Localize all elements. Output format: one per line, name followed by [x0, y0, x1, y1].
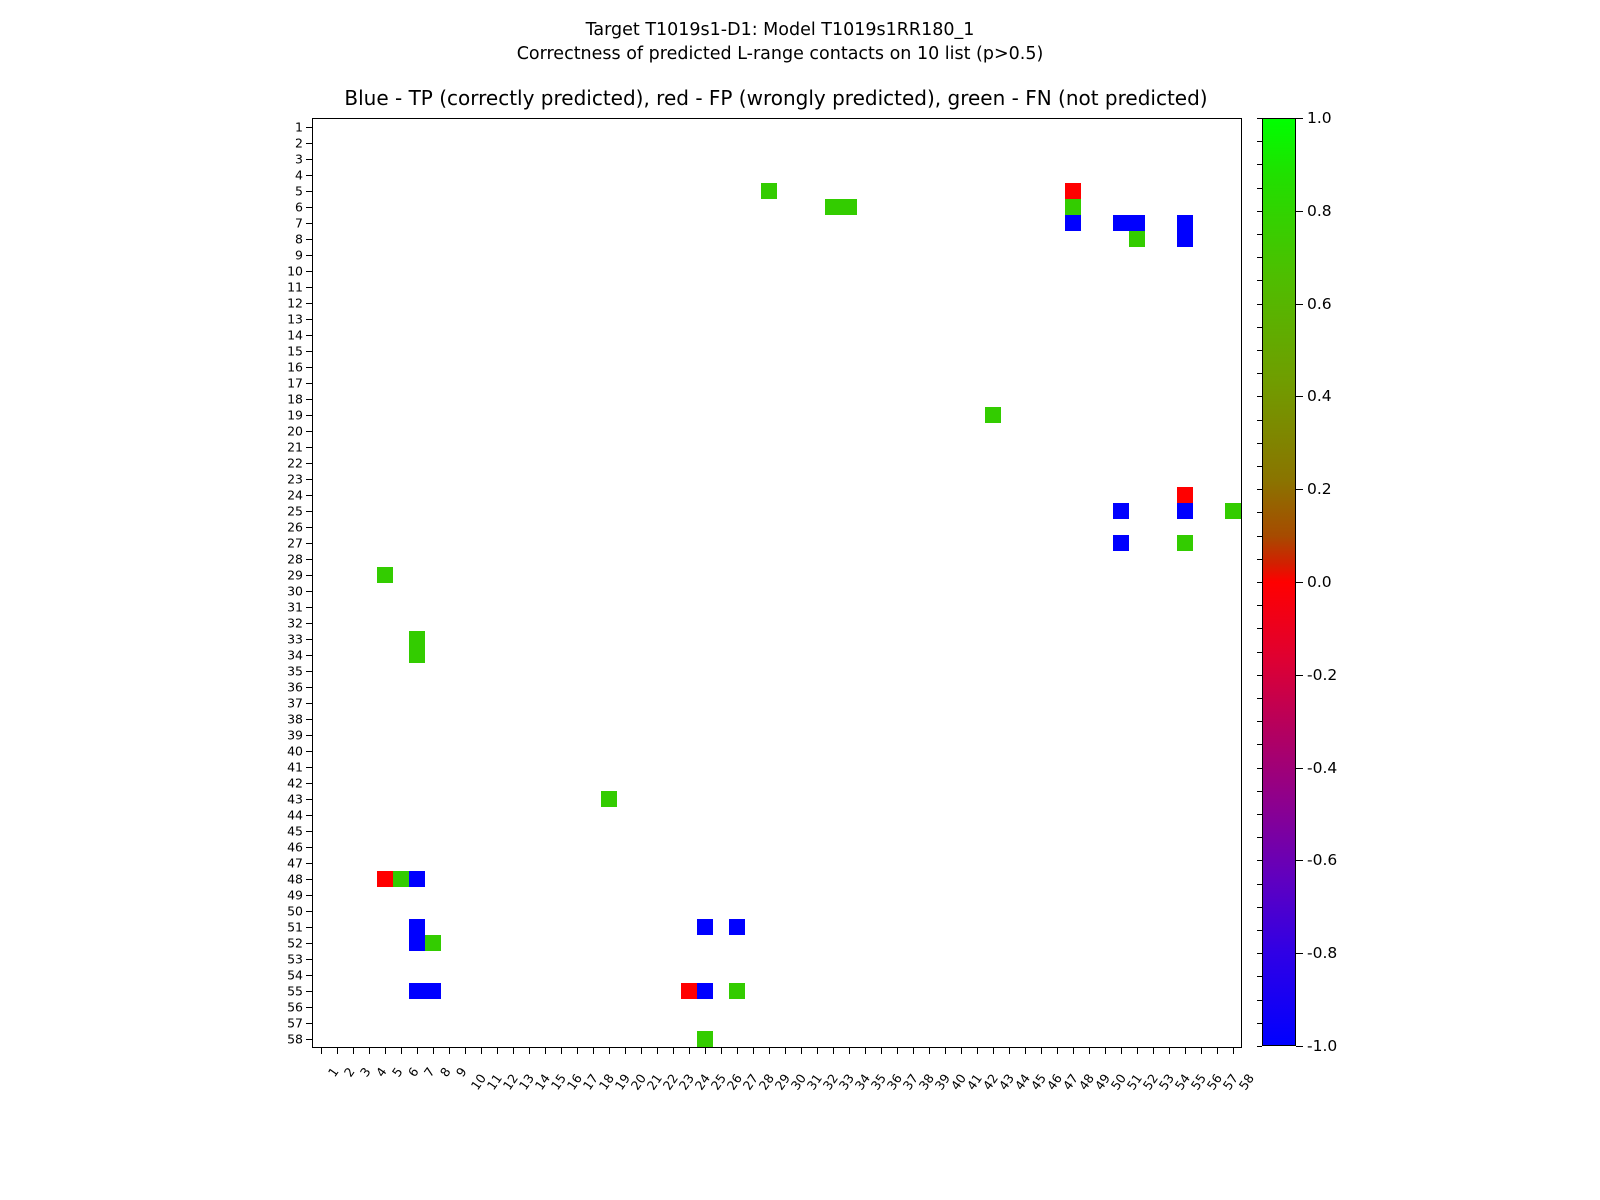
x-axis-tick-label: 7 — [421, 1065, 438, 1080]
y-axis-tick-label: 47 — [287, 856, 303, 871]
x-axis-tick — [961, 1047, 962, 1054]
y-axis-tick-label: 7 — [295, 216, 303, 231]
y-axis-tick — [306, 783, 313, 784]
y-axis-tick-label: 4 — [295, 168, 303, 183]
x-axis-tick — [1217, 1047, 1218, 1054]
x-axis-tick — [513, 1047, 514, 1054]
contact-cell-fn — [1225, 503, 1241, 519]
x-axis-tick-label: 5 — [389, 1065, 406, 1080]
colorbar-tick-label: 0.0 — [1307, 573, 1332, 591]
x-axis-tick — [865, 1047, 866, 1054]
y-axis-tick-label: 52 — [287, 936, 303, 951]
colorbar-tick — [1296, 396, 1303, 397]
colorbar-minor-tick — [1257, 1023, 1262, 1024]
contact-cell-fn — [761, 183, 777, 199]
y-axis-tick — [306, 1007, 313, 1008]
y-axis-tick — [306, 127, 313, 128]
contact-cell-fn — [729, 983, 745, 999]
x-axis-tick — [417, 1047, 418, 1054]
colorbar-tick-label: -0.8 — [1307, 944, 1337, 962]
colorbar-minor-tick — [1257, 605, 1262, 606]
y-axis-tick-label: 27 — [287, 536, 303, 551]
colorbar-minor-tick — [1257, 536, 1262, 537]
colorbar-minor-tick — [1257, 698, 1262, 699]
colorbar: 1.00.80.60.40.20.0-0.2-0.4-0.6-0.8-1.0 — [1262, 118, 1296, 1046]
y-axis-tick-label: 10 — [287, 264, 303, 279]
x-axis-tick — [705, 1047, 706, 1054]
colorbar-minor-tick — [1257, 257, 1262, 258]
y-axis-tick-label: 58 — [287, 1032, 303, 1047]
x-axis-tick — [769, 1047, 770, 1054]
x-axis-tick — [833, 1047, 834, 1054]
colorbar-tick-label: -1.0 — [1307, 1037, 1337, 1055]
y-axis-tick — [306, 431, 313, 432]
x-axis-tick — [913, 1047, 914, 1054]
colorbar-minor-tick — [1257, 582, 1262, 583]
contact-cell-fn — [697, 1031, 713, 1047]
colorbar-minor-tick — [1257, 744, 1262, 745]
x-axis-tick-label: 6 — [405, 1065, 422, 1080]
contact-cell-fn — [985, 407, 1001, 423]
colorbar-minor-tick — [1257, 466, 1262, 467]
contact-cell-fp — [377, 871, 393, 887]
colorbar-minor-tick — [1257, 489, 1262, 490]
colorbar-minor-tick — [1257, 234, 1262, 235]
x-axis-tick — [737, 1047, 738, 1054]
y-axis-tick-label: 9 — [295, 248, 303, 263]
x-axis-tick — [849, 1047, 850, 1054]
y-axis-tick-label: 5 — [295, 184, 303, 199]
x-axis-tick — [881, 1047, 882, 1054]
colorbar-minor-tick — [1257, 420, 1262, 421]
chart-title-line-2: Correctness of predicted L-range contact… — [0, 42, 1560, 66]
y-axis-tick — [306, 943, 313, 944]
y-axis-tick — [306, 767, 313, 768]
y-axis-tick-label: 35 — [287, 664, 303, 679]
contact-cell-fp — [1065, 183, 1081, 199]
y-axis-tick — [306, 671, 313, 672]
y-axis-tick — [306, 415, 313, 416]
x-axis-tick-label: 2 — [341, 1065, 358, 1080]
x-axis-tick — [721, 1047, 722, 1054]
y-axis-tick-label: 37 — [287, 696, 303, 711]
x-axis-tick — [1041, 1047, 1042, 1054]
y-axis-tick-label: 12 — [287, 296, 303, 311]
y-axis-tick-label: 32 — [287, 616, 303, 631]
colorbar-tick — [1296, 489, 1303, 490]
x-axis-tick — [945, 1047, 946, 1054]
colorbar-minor-tick — [1257, 118, 1262, 119]
colorbar-minor-tick — [1257, 350, 1262, 351]
x-axis-tick — [497, 1047, 498, 1054]
y-axis-tick-label: 22 — [287, 456, 303, 471]
y-axis-tick-label: 2 — [295, 136, 303, 151]
colorbar-minor-tick — [1257, 930, 1262, 931]
y-axis-tick-label: 55 — [287, 984, 303, 999]
x-axis-tick-label: 8 — [437, 1065, 454, 1080]
contact-cell-fn — [601, 791, 617, 807]
y-axis-tick-label: 54 — [287, 968, 303, 983]
contact-cell-tp — [1113, 535, 1129, 551]
chart-subtitle-legend: Blue - TP (correctly predicted), red - F… — [312, 86, 1240, 110]
y-axis-tick-label: 50 — [287, 904, 303, 919]
colorbar-minor-tick — [1257, 814, 1262, 815]
y-axis-tick-label: 30 — [287, 584, 303, 599]
x-axis-tick — [369, 1047, 370, 1054]
contact-cell-tp — [1113, 503, 1129, 519]
y-axis-tick — [306, 351, 313, 352]
y-axis-tick — [306, 863, 313, 864]
x-axis-tick — [385, 1047, 386, 1054]
contact-cell-fn — [409, 647, 425, 663]
y-axis-tick — [306, 207, 313, 208]
chart-title-block: Target T1019s1-D1: Model T1019s1RR180_1 … — [0, 18, 1560, 66]
x-axis-tick — [785, 1047, 786, 1054]
y-axis-tick — [306, 575, 313, 576]
colorbar-minor-tick — [1257, 768, 1262, 769]
y-axis-tick — [306, 607, 313, 608]
y-axis-tick-label: 36 — [287, 680, 303, 695]
y-axis-tick-label: 14 — [287, 328, 303, 343]
colorbar-tick — [1296, 675, 1303, 676]
y-axis-tick-label: 51 — [287, 920, 303, 935]
x-axis-tick-label: 4 — [373, 1065, 390, 1080]
colorbar-minor-tick — [1257, 141, 1262, 142]
contact-cell-tp — [409, 935, 425, 951]
y-axis-tick-label: 28 — [287, 552, 303, 567]
y-axis-tick-label: 57 — [287, 1016, 303, 1031]
y-axis-tick-label: 39 — [287, 728, 303, 743]
contact-cell-fn — [1129, 231, 1145, 247]
y-axis-tick — [306, 687, 313, 688]
colorbar-minor-tick — [1257, 675, 1262, 676]
y-axis-tick — [306, 815, 313, 816]
y-axis-tick — [306, 559, 313, 560]
colorbar-minor-tick — [1257, 791, 1262, 792]
colorbar-minor-tick — [1257, 559, 1262, 560]
colorbar-minor-tick — [1257, 721, 1262, 722]
colorbar-minor-tick — [1257, 953, 1262, 954]
y-axis-tick-label: 43 — [287, 792, 303, 807]
colorbar-tick — [1296, 860, 1303, 861]
y-axis-tick — [306, 831, 313, 832]
y-axis-tick — [306, 335, 313, 336]
colorbar-tick — [1296, 304, 1303, 305]
y-axis-tick-label: 19 — [287, 408, 303, 423]
x-axis-tick — [641, 1047, 642, 1054]
x-axis-tick — [609, 1047, 610, 1054]
colorbar-tick — [1296, 118, 1303, 119]
x-axis-tick — [753, 1047, 754, 1054]
y-axis-tick — [306, 223, 313, 224]
x-axis-tick — [897, 1047, 898, 1054]
y-axis-tick — [306, 191, 313, 192]
colorbar-tick-label: -0.4 — [1307, 759, 1337, 777]
colorbar-minor-tick — [1257, 512, 1262, 513]
y-axis-tick-label: 6 — [295, 200, 303, 215]
colorbar-minor-tick — [1257, 1046, 1262, 1047]
y-axis-tick — [306, 655, 313, 656]
x-axis-tick — [321, 1047, 322, 1054]
x-axis-tick-label: 58 — [1236, 1071, 1257, 1093]
x-axis-tick — [1073, 1047, 1074, 1054]
colorbar-tick — [1296, 582, 1303, 583]
y-axis-tick-label: 34 — [287, 648, 303, 663]
colorbar-tick-label: 0.8 — [1307, 202, 1332, 220]
x-axis-tick — [801, 1047, 802, 1054]
y-axis-tick-label: 56 — [287, 1000, 303, 1015]
colorbar-minor-tick — [1257, 884, 1262, 885]
x-axis-tick — [577, 1047, 578, 1054]
y-axis-tick-label: 18 — [287, 392, 303, 407]
x-axis-tick — [977, 1047, 978, 1054]
colorbar-minor-tick — [1257, 860, 1262, 861]
x-axis-tick — [1025, 1047, 1026, 1054]
y-axis-tick-label: 38 — [287, 712, 303, 727]
contact-cell-fn — [1065, 199, 1081, 215]
x-axis-tick — [1009, 1047, 1010, 1054]
x-axis-tick — [481, 1047, 482, 1054]
y-axis-tick-label: 46 — [287, 840, 303, 855]
contact-cell-tp — [697, 919, 713, 935]
x-axis-tick — [657, 1047, 658, 1054]
y-axis-tick — [306, 735, 313, 736]
y-axis-tick — [306, 991, 313, 992]
x-axis-tick-label: 1 — [325, 1065, 342, 1080]
x-axis-tick — [689, 1047, 690, 1054]
x-axis-tick — [449, 1047, 450, 1054]
x-axis-tick — [1137, 1047, 1138, 1054]
colorbar-tick-label: 0.2 — [1307, 480, 1332, 498]
contact-cell-fp — [681, 983, 697, 999]
contact-cell-fn — [409, 631, 425, 647]
colorbar-minor-tick — [1257, 164, 1262, 165]
contact-cell-tp — [697, 983, 713, 999]
x-axis-tick — [1089, 1047, 1090, 1054]
y-axis-tick-label: 53 — [287, 952, 303, 967]
y-axis-tick — [306, 447, 313, 448]
colorbar-minor-tick — [1257, 304, 1262, 305]
contact-cell-tp — [409, 983, 425, 999]
y-axis-tick — [306, 175, 313, 176]
colorbar-minor-tick — [1257, 280, 1262, 281]
y-axis-tick-label: 1 — [295, 120, 303, 135]
x-axis-tick — [1185, 1047, 1186, 1054]
colorbar-minor-tick — [1257, 1000, 1262, 1001]
y-axis-tick-label: 42 — [287, 776, 303, 791]
y-axis-tick — [306, 623, 313, 624]
y-axis-tick — [306, 143, 313, 144]
y-axis-tick-label: 15 — [287, 344, 303, 359]
y-axis-tick — [306, 527, 313, 528]
colorbar-minor-tick — [1257, 327, 1262, 328]
y-axis-tick-label: 17 — [287, 376, 303, 391]
x-axis-tick — [625, 1047, 626, 1054]
x-axis-tick — [353, 1047, 354, 1054]
y-axis-tick-label: 24 — [287, 488, 303, 503]
contact-cell-fn — [841, 199, 857, 215]
contact-cell-tp — [409, 919, 425, 935]
y-axis-tick — [306, 1039, 313, 1040]
y-axis-tick — [306, 495, 313, 496]
x-axis-tick — [929, 1047, 930, 1054]
contact-cell-tp — [1177, 231, 1193, 247]
y-axis-tick — [306, 287, 313, 288]
y-axis-tick — [306, 319, 313, 320]
colorbar-minor-tick — [1257, 628, 1262, 629]
y-axis-tick-label: 26 — [287, 520, 303, 535]
y-axis-tick — [306, 959, 313, 960]
contact-map-plot-area: 1234567891011121314151617181920212223242… — [312, 118, 1242, 1048]
colorbar-minor-tick — [1257, 373, 1262, 374]
y-axis-tick — [306, 799, 313, 800]
y-axis-tick-label: 20 — [287, 424, 303, 439]
y-axis-tick-label: 33 — [287, 632, 303, 647]
x-axis-tick — [1121, 1047, 1122, 1054]
colorbar-tick-label: 1.0 — [1307, 109, 1332, 127]
y-axis-tick — [306, 303, 313, 304]
colorbar-minor-tick — [1257, 837, 1262, 838]
y-axis-tick-label: 40 — [287, 744, 303, 759]
contact-map-cells — [313, 119, 1241, 1047]
y-axis-tick-label: 3 — [295, 152, 303, 167]
contact-cell-fn — [1177, 535, 1193, 551]
y-axis-tick — [306, 879, 313, 880]
colorbar-minor-tick — [1257, 188, 1262, 189]
x-axis-tick — [433, 1047, 434, 1054]
contact-cell-tp — [425, 983, 441, 999]
colorbar-minor-tick — [1257, 652, 1262, 653]
x-axis-tick — [1057, 1047, 1058, 1054]
y-axis-tick — [306, 511, 313, 512]
y-axis-tick — [306, 895, 313, 896]
x-axis-tick — [1201, 1047, 1202, 1054]
contact-cell-fn — [825, 199, 841, 215]
y-axis-tick-label: 48 — [287, 872, 303, 887]
contact-cell-fp — [1177, 487, 1193, 503]
colorbar-tick-label: 0.4 — [1307, 387, 1332, 405]
x-axis-tick — [1105, 1047, 1106, 1054]
y-axis-tick — [306, 463, 313, 464]
y-axis-tick-label: 23 — [287, 472, 303, 487]
y-axis-tick-label: 31 — [287, 600, 303, 615]
y-axis-tick-label: 44 — [287, 808, 303, 823]
x-axis-tick — [465, 1047, 466, 1054]
x-axis-tick — [545, 1047, 546, 1054]
y-axis-tick — [306, 703, 313, 704]
y-axis-tick — [306, 239, 313, 240]
contact-cell-fn — [393, 871, 409, 887]
contact-cell-fn — [425, 935, 441, 951]
y-axis-tick — [306, 159, 313, 160]
x-axis-tick — [529, 1047, 530, 1054]
y-axis-tick — [306, 847, 313, 848]
x-axis-tick — [1153, 1047, 1154, 1054]
y-axis-tick-label: 49 — [287, 888, 303, 903]
contact-cell-tp — [1065, 215, 1081, 231]
y-axis-tick — [306, 639, 313, 640]
y-axis-tick — [306, 911, 313, 912]
contact-cell-tp — [1177, 215, 1193, 231]
colorbar-tick-label: 0.6 — [1307, 295, 1332, 313]
y-axis-tick — [306, 591, 313, 592]
x-axis-tick — [593, 1047, 594, 1054]
y-axis-tick-label: 45 — [287, 824, 303, 839]
colorbar-tick — [1296, 953, 1303, 954]
colorbar-minor-tick — [1257, 443, 1262, 444]
colorbar-tick-label: -0.2 — [1307, 666, 1337, 684]
y-axis-tick — [306, 367, 313, 368]
colorbar-minor-tick — [1257, 976, 1262, 977]
y-axis-tick-label: 13 — [287, 312, 303, 327]
x-axis-tick — [1233, 1047, 1234, 1054]
x-axis-tick — [993, 1047, 994, 1054]
colorbar-gradient — [1262, 118, 1296, 1046]
chart-title-line-1: Target T1019s1-D1: Model T1019s1RR180_1 — [0, 18, 1560, 42]
y-axis-tick — [306, 975, 313, 976]
y-axis-tick-label: 11 — [287, 280, 303, 295]
x-axis-tick-label: 9 — [453, 1065, 470, 1080]
colorbar-minor-tick — [1257, 211, 1262, 212]
y-axis-tick — [306, 271, 313, 272]
y-axis-tick — [306, 719, 313, 720]
x-axis-tick — [337, 1047, 338, 1054]
colorbar-minor-tick — [1257, 396, 1262, 397]
y-axis-tick-label: 25 — [287, 504, 303, 519]
contact-cell-tp — [409, 871, 425, 887]
contact-cell-tp — [1113, 215, 1129, 231]
y-axis-tick-label: 21 — [287, 440, 303, 455]
colorbar-tick — [1296, 1046, 1303, 1047]
contact-cell-tp — [729, 919, 745, 935]
x-axis-tick — [673, 1047, 674, 1054]
y-axis-tick-label: 16 — [287, 360, 303, 375]
colorbar-tick — [1296, 211, 1303, 212]
x-axis-tick — [561, 1047, 562, 1054]
x-axis-tick — [401, 1047, 402, 1054]
x-axis-tick — [1169, 1047, 1170, 1054]
y-axis-tick — [306, 1023, 313, 1024]
y-axis-tick — [306, 255, 313, 256]
y-axis-tick — [306, 751, 313, 752]
y-axis-tick — [306, 383, 313, 384]
contact-cell-tp — [1177, 503, 1193, 519]
y-axis-tick — [306, 399, 313, 400]
contact-cell-fn — [377, 567, 393, 583]
x-axis-tick — [817, 1047, 818, 1054]
y-axis-tick-label: 29 — [287, 568, 303, 583]
colorbar-minor-tick — [1257, 907, 1262, 908]
y-axis-tick-label: 41 — [287, 760, 303, 775]
y-axis-tick — [306, 479, 313, 480]
colorbar-tick — [1296, 768, 1303, 769]
colorbar-tick-label: -0.6 — [1307, 851, 1337, 869]
contact-cell-tp — [1129, 215, 1145, 231]
y-axis-tick — [306, 543, 313, 544]
y-axis-tick-label: 8 — [295, 232, 303, 247]
x-axis-tick-label: 3 — [357, 1065, 374, 1080]
y-axis-tick — [306, 927, 313, 928]
